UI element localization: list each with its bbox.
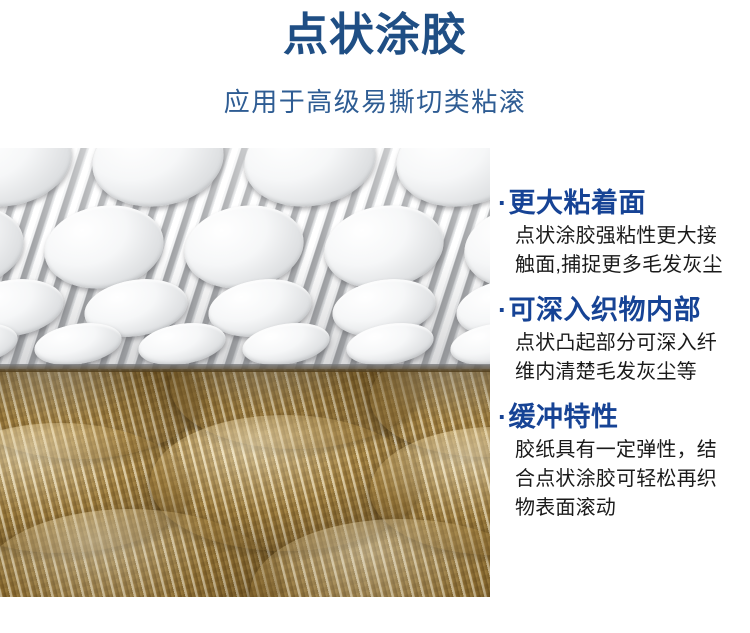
feature-heading-1: ·更大粘着面: [498, 186, 750, 220]
feature-body-3-line-1: 胶纸具有一定弹性，结: [515, 436, 750, 465]
page-subtitle: 应用于高级易撕切类粘滚: [0, 84, 750, 120]
bullet-dot-icon: ·: [498, 400, 508, 434]
fabric-fibre-surface: [0, 369, 490, 597]
feature-body-3: 胶纸具有一定弹性，结 合点状涂胶可轻松再织 物表面滚动: [498, 436, 750, 523]
feature-body-3-line-3: 物表面滚动: [515, 494, 750, 523]
product-photo: [0, 148, 490, 597]
feature-heading-2: ·可深入织物内部: [498, 293, 750, 327]
adhesive-dot: [458, 197, 490, 297]
feature-body-2: 点状凸起部分可深入纤 维内清楚毛发灰尘等: [498, 329, 750, 387]
feature-heading-3: ·缓冲特性: [498, 400, 750, 434]
photo-seam-divider: [0, 364, 490, 372]
header-banner: 点状涂胶 应用于高级易撕切类粘滚: [0, 0, 750, 148]
feature-body-3-line-2: 合点状涂胶可轻松再织: [515, 465, 750, 494]
feature-body-1-line-1: 点状涂胶强粘性更大接: [515, 222, 750, 251]
feature-body-2-line-2: 维内清楚毛发灰尘等: [515, 358, 750, 387]
feature-block-1: ·更大粘着面 点状涂胶强粘性更大接 触面,捕捉更多毛发灰尘: [498, 186, 750, 280]
adhesive-dots-surface: [0, 148, 490, 369]
feature-body-1: 点状涂胶强粘性更大接 触面,捕捉更多毛发灰尘: [498, 222, 750, 280]
adhesive-dot: [0, 148, 78, 216]
feature-heading-3-text: 缓冲特性: [509, 402, 619, 432]
feature-block-2: ·可深入织物内部 点状凸起部分可深入纤 维内清楚毛发灰尘等: [498, 293, 750, 387]
feature-body-2-line-1: 点状凸起部分可深入纤: [515, 329, 750, 358]
bullet-dot-icon: ·: [498, 186, 508, 220]
feature-body-1-line-2: 触面,捕捉更多毛发灰尘: [515, 251, 750, 280]
page-title: 点状涂胶: [0, 6, 750, 64]
feature-block-3: ·缓冲特性 胶纸具有一定弹性，结 合点状涂胶可轻松再织 物表面滚动: [498, 400, 750, 523]
feature-heading-2-text: 可深入织物内部: [509, 295, 702, 325]
feature-list: ·更大粘着面 点状涂胶强粘性更大接 触面,捕捉更多毛发灰尘 ·可深入织物内部 点…: [498, 186, 750, 536]
feature-heading-1-text: 更大粘着面: [509, 188, 647, 218]
bullet-dot-icon: ·: [498, 293, 508, 327]
